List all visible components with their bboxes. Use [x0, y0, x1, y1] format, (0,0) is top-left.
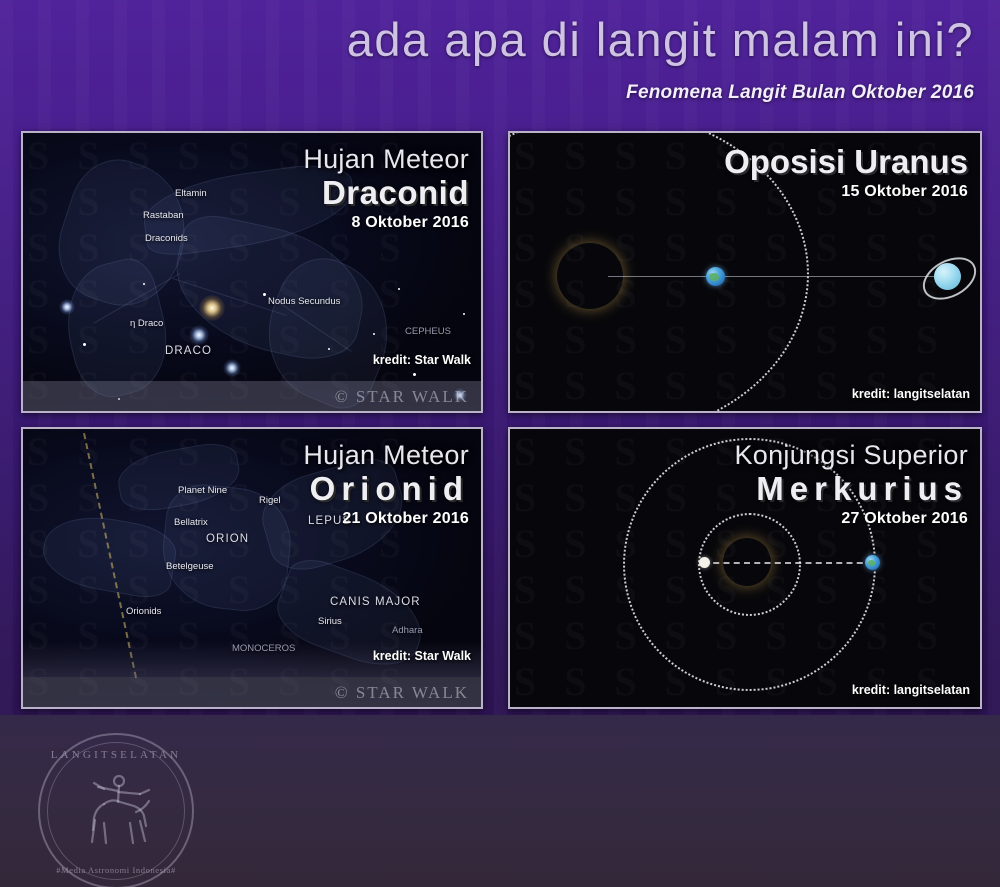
panel-credit: kredit: Star Walk — [373, 649, 471, 663]
star-label: Bellatrix — [174, 517, 208, 528]
header: ada apa di langit malam ini? Fenomena La… — [0, 0, 1000, 118]
star-label: Sirius — [318, 616, 342, 627]
sagittarius-centaur-icon — [74, 771, 160, 849]
panel-heading: Hujan Meteor Orionid 21 Oktober 2016 — [303, 441, 469, 528]
star-label: η Draco — [130, 318, 163, 329]
panel-orionid[interactable]: SSSSSSSSSSSSSSSSSSSSSSSSSSSSSSSSSSSSSSSS… — [21, 427, 483, 709]
star — [463, 313, 465, 315]
page-subtitle: Fenomena Langit Bulan Oktober 2016 — [626, 82, 974, 104]
sun-body — [557, 243, 623, 309]
panel-oposisi-uranus[interactable]: SSSSSSSSSSSSSSSSSSSSSSSSSSSSSSSSSSSSSSSS… — [508, 131, 982, 413]
panel-credit: kredit: langitselatan — [852, 387, 970, 401]
star-label: Rastaban — [143, 210, 184, 221]
panel-draconid[interactable]: SSSSSSSSSSSSSSSSSSSSSSSSSSSSSSSSSSSSSSSS… — [21, 131, 483, 413]
earth-body — [865, 555, 880, 570]
star-label: CANIS MAJOR — [330, 596, 421, 608]
star-label: CEPHEUS — [405, 326, 451, 337]
panel-credit: kredit: Star Walk — [373, 353, 471, 367]
panel-line2: Merkurius — [734, 471, 968, 507]
panel-line1: Hujan Meteor — [303, 145, 469, 174]
star — [263, 293, 266, 296]
panel-date: 21 Oktober 2016 — [303, 510, 469, 528]
star — [373, 333, 375, 335]
star-glow — [199, 295, 225, 321]
star-label: Draconids — [145, 233, 188, 244]
panel-credit: kredit: langitselatan — [852, 683, 970, 697]
panel-date: 8 Oktober 2016 — [303, 214, 469, 232]
sun-body — [723, 538, 771, 586]
starwalk-watermark: © STAR WALK — [335, 683, 469, 703]
star-label: Betelgeuse — [166, 561, 214, 572]
panel-heading: Oposisi Uranus 15 Oktober 2016 — [724, 145, 968, 201]
star-glow — [59, 299, 75, 315]
star — [328, 348, 330, 350]
panel-date: 15 Oktober 2016 — [724, 183, 968, 201]
star-label: Rigel — [259, 495, 281, 506]
star — [398, 288, 400, 290]
star — [413, 373, 416, 376]
mercury-body — [699, 557, 710, 568]
panel-date: 27 Oktober 2016 — [734, 510, 968, 528]
star — [83, 343, 86, 346]
panel-heading: Konjungsi Superior Merkurius 27 Oktober … — [734, 441, 968, 528]
page-title: ada apa di langit malam ini? — [347, 16, 974, 63]
starwalk-watermark: © STAR WALK — [335, 387, 469, 407]
star-glow — [223, 359, 241, 377]
star-glow — [189, 325, 209, 345]
star-label: ORION — [206, 533, 249, 545]
logo-bottom-text: #Media Astronomi Indonesia# — [40, 865, 192, 875]
star-label: MONOCEROS — [232, 643, 295, 654]
poster-root: ada apa di langit malam ini? Fenomena La… — [0, 0, 1000, 887]
star-label: Orionids — [126, 606, 161, 617]
panel-line2: Orionid — [303, 471, 469, 507]
langitselatan-logo: LANGITSELATAN #Media Astronomi Indonesia… — [38, 733, 194, 887]
panel-line1: Oposisi Uranus — [724, 145, 968, 180]
alignment-line — [608, 276, 958, 277]
panel-konjungsi-merkurius[interactable]: SSSSSSSSSSSSSSSSSSSSSSSSSSSSSSSSSSSSSSSS… — [508, 427, 982, 709]
star-label: DRACO — [165, 345, 212, 357]
star-label: Nodus Secundus — [268, 296, 340, 307]
panel-heading: Hujan Meteor Draconid 8 Oktober 2016 — [303, 145, 469, 232]
panel-line1: Konjungsi Superior — [734, 441, 968, 470]
star-label: Eltamin — [175, 188, 207, 199]
star-label: Adhara — [392, 625, 423, 636]
panel-line1: Hujan Meteor — [303, 441, 469, 470]
footer: LANGITSELATAN #Media Astronomi Indonesia… — [0, 715, 1000, 887]
logo-top-text: LANGITSELATAN — [40, 749, 192, 761]
earth-body — [706, 267, 725, 286]
star-label: Planet Nine — [178, 485, 227, 496]
star — [143, 283, 145, 285]
panel-line2: Draconid — [303, 175, 469, 211]
